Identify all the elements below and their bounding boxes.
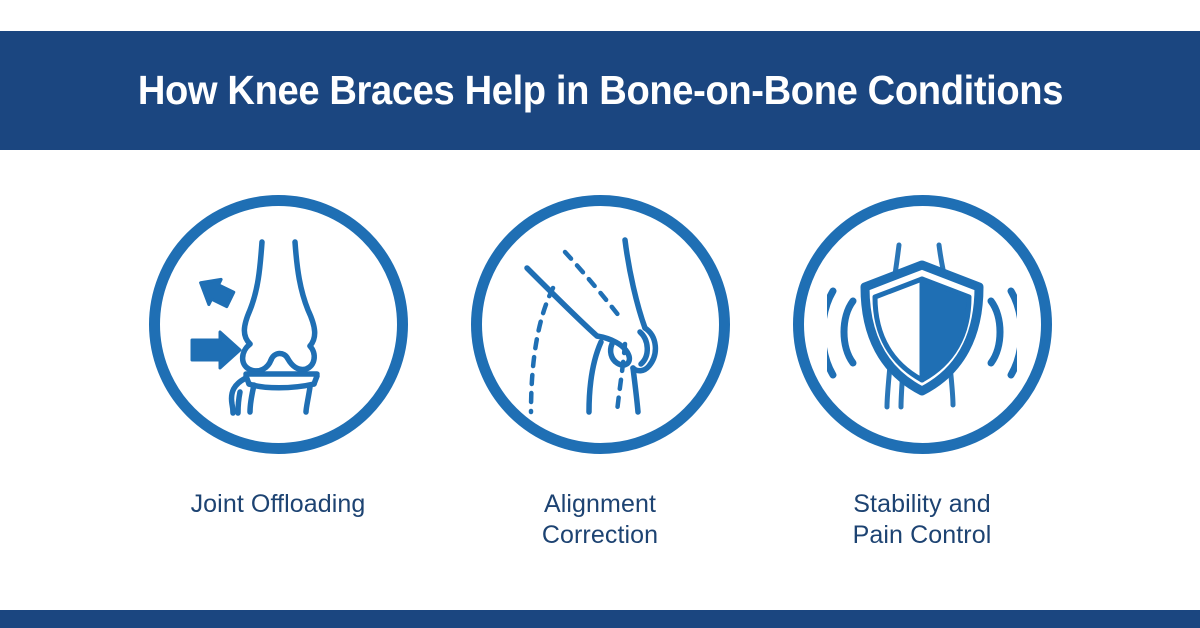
benefit-card-stability-pain-control: Stability and Pain Control	[792, 195, 1052, 552]
benefit-cards-row: Joint Offloading	[0, 150, 1200, 610]
infographic-canvas: How Knee Braces Help in Bone-on-Bone Con…	[0, 0, 1200, 628]
header-band: How Knee Braces Help in Bone-on-Bone Con…	[0, 31, 1200, 150]
footer-band	[0, 610, 1200, 628]
benefit-card-alignment-correction: Alignment Correction	[470, 195, 730, 552]
benefit-label-joint-offloading: Joint Offloading	[191, 489, 366, 520]
knee-joint-compression-icon	[188, 232, 368, 417]
icon-circle-joint-offloading	[149, 195, 408, 454]
benefit-label-alignment-correction: Alignment Correction	[542, 489, 658, 552]
knee-alignment-icon	[513, 232, 688, 417]
icon-circle-stability-pain-control	[793, 195, 1052, 454]
page-title: How Knee Braces Help in Bone-on-Bone Con…	[137, 70, 1062, 111]
knee-shield-stability-icon	[827, 235, 1017, 415]
icon-circle-alignment-correction	[471, 195, 730, 454]
benefit-label-stability-pain-control: Stability and Pain Control	[853, 489, 992, 552]
benefit-card-joint-offloading: Joint Offloading	[148, 195, 408, 520]
